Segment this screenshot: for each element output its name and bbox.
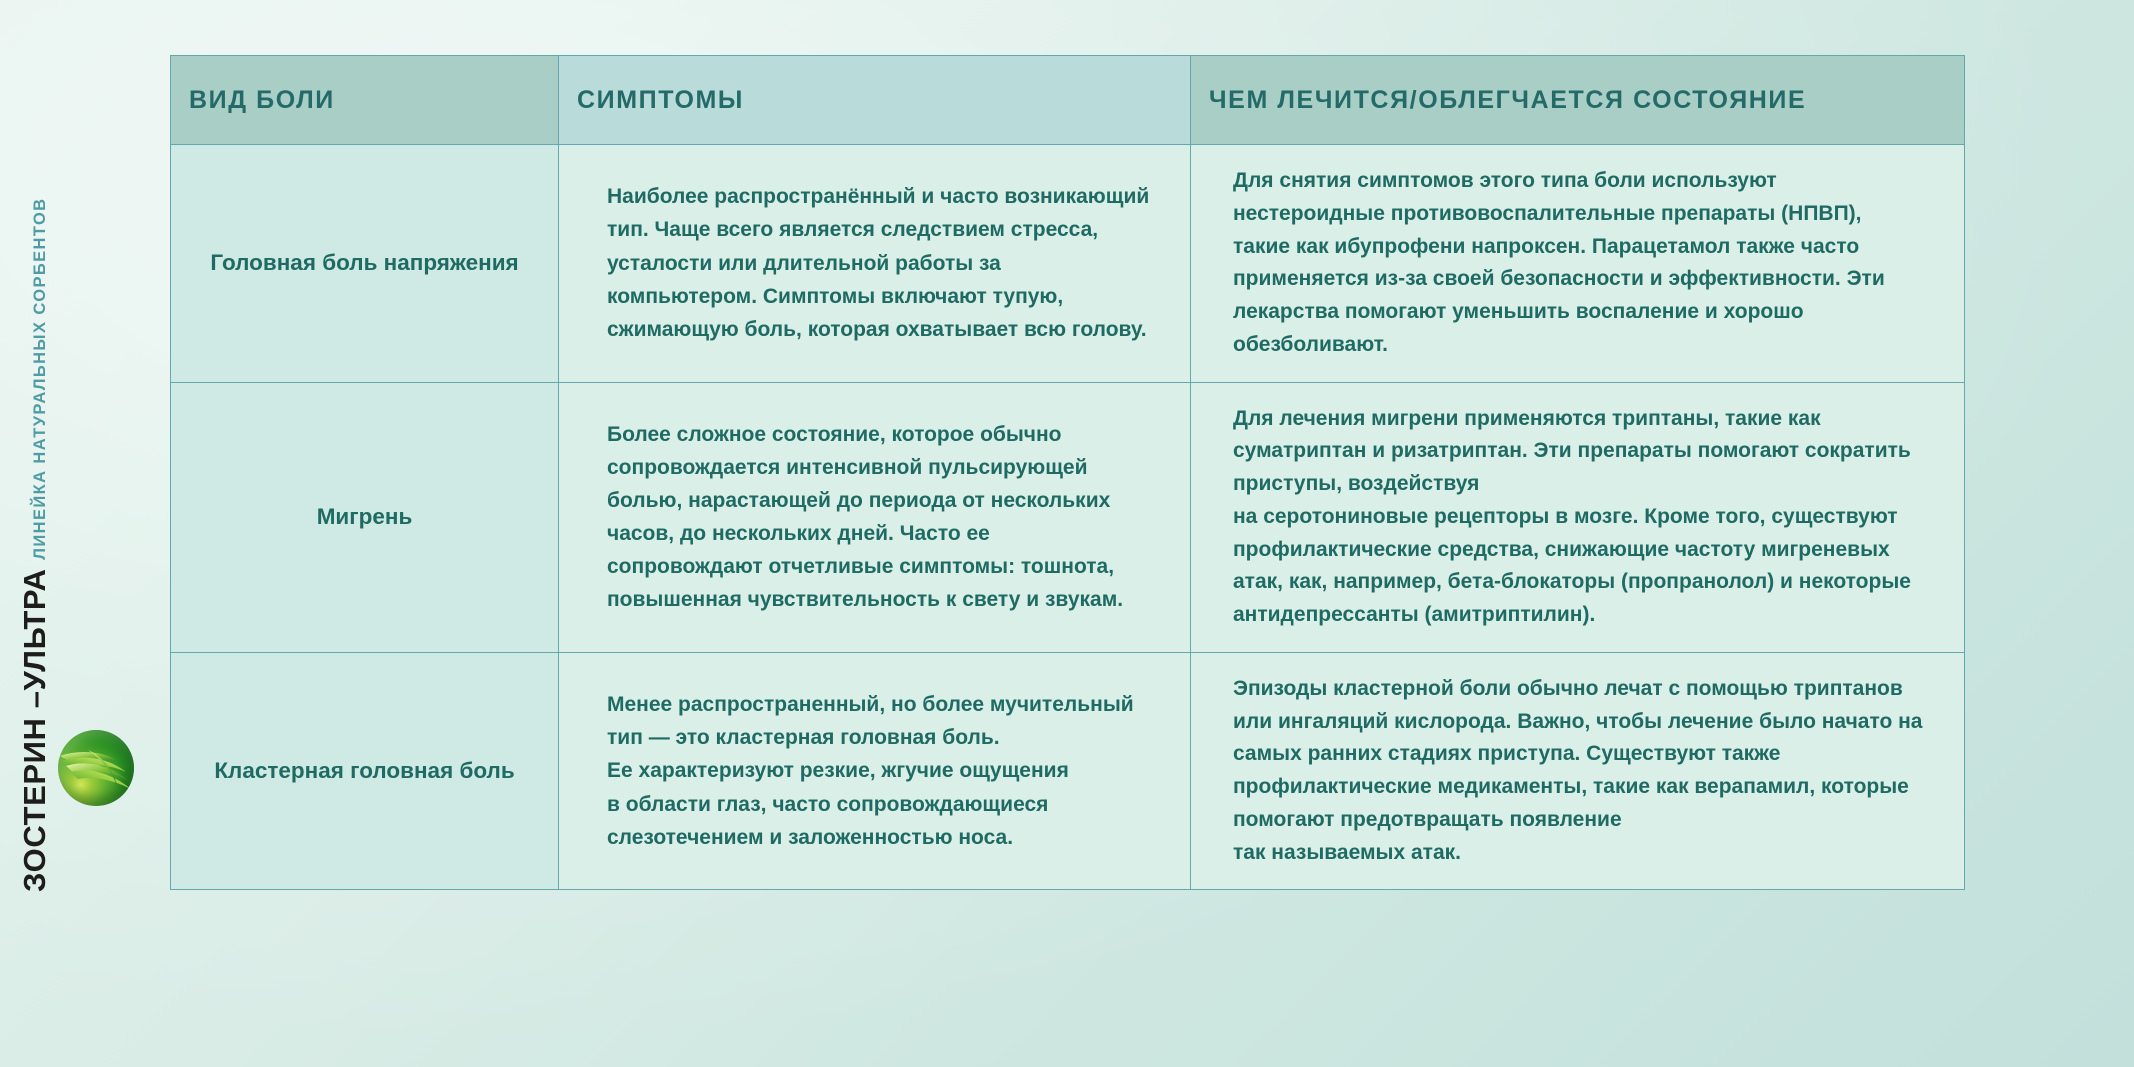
- symptoms-body: Более сложное состояние, которое обычно …: [607, 423, 1123, 612]
- column-header-treatment: ЧЕМ ЛЕЧИТСЯ/ОБЛЕГЧАЕТСЯ СОСТОЯНИЕ: [1191, 56, 1965, 145]
- treatment-body: Эпизоды кластерной боли обычно лечат с п…: [1233, 677, 1922, 864]
- brand-tagline: ЛИНЕЙКА НАТУРАЛЬНЫХ СОРБЕНТОВ: [32, 198, 49, 560]
- table-body: Головная боль напряжения Наиболее распро…: [171, 145, 1965, 890]
- symptoms-text: Наиболее распространённый и часто возник…: [559, 145, 1191, 383]
- pain-types-table: ВИД БОЛИ СИМПТОМЫ ЧЕМ ЛЕЧИТСЯ/ОБЛЕГЧАЕТС…: [170, 55, 1965, 890]
- column-header-pain-type: ВИД БОЛИ: [171, 56, 559, 145]
- column-header-symptoms: СИМПТОМЫ: [559, 56, 1191, 145]
- treatment-text: Для лечения мигрени применяются триптаны…: [1191, 382, 1965, 652]
- table-row: Кластерная головная боль Менее распростр…: [171, 652, 1965, 890]
- pain-type-label: Кластерная головная боль: [171, 652, 559, 890]
- table-row: Мигрень Более сложное состояние, которое…: [171, 382, 1965, 652]
- treatment-text: Для снятия симптомов этого типа боли исп…: [1191, 145, 1965, 383]
- pain-type-label: Мигрень: [171, 382, 559, 652]
- brand-rail: ЗОСТЕРИН –УЛЬТРА ЛИНЕЙКА НАТУРАЛЬНЫХ СОР…: [0, 0, 170, 1067]
- symptoms-body: Наиболее распространённый и часто возник…: [607, 185, 1149, 341]
- table-header: ВИД БОЛИ СИМПТОМЫ ЧЕМ ЛЕЧИТСЯ/ОБЛЕГЧАЕТС…: [171, 56, 1965, 145]
- treatment-body: Для лечения мигрени применяются триптаны…: [1233, 407, 1911, 627]
- pain-type-label: Головная боль напряжения: [171, 145, 559, 383]
- treatment-body: Для снятия симптомов этого типа боли исп…: [1233, 169, 1885, 356]
- table-row: Головная боль напряжения Наиболее распро…: [171, 145, 1965, 383]
- brand-vertical-lockup: ЗОСТЕРИН –УЛЬТРА ЛИНЕЙКА НАТУРАЛЬНЫХ СОР…: [19, 198, 50, 893]
- table-header-row: ВИД БОЛИ СИМПТОМЫ ЧЕМ ЛЕЧИТСЯ/ОБЛЕГЧАЕТС…: [171, 56, 1965, 145]
- green-sphere-seaweed-logo-icon: [58, 730, 134, 806]
- symptoms-text: Более сложное состояние, которое обычно …: [559, 382, 1191, 652]
- symptoms-text: Менее распространенный, но более мучител…: [559, 652, 1191, 890]
- symptoms-body: Менее распространенный, но более мучител…: [607, 693, 1134, 849]
- treatment-text: Эпизоды кластерной боли обычно лечат с п…: [1191, 652, 1965, 890]
- brand-name: ЗОСТЕРИН –УЛЬТРА: [19, 569, 50, 892]
